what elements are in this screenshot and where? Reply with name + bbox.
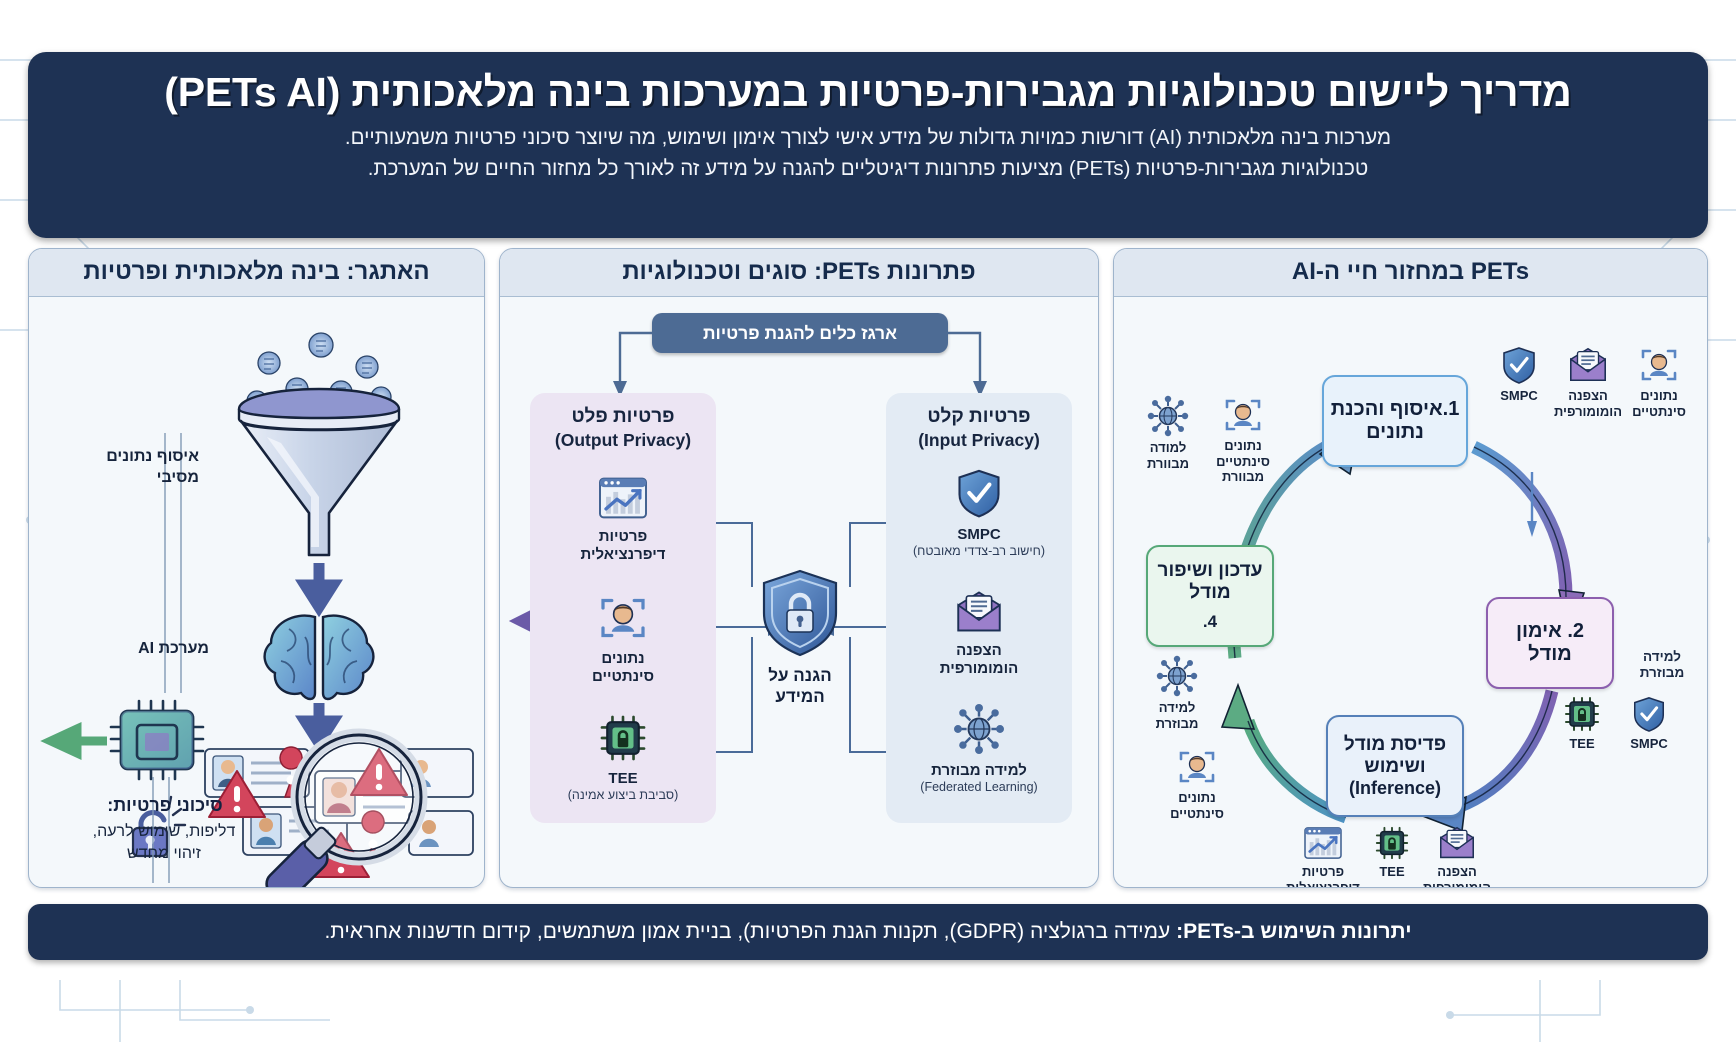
step1-line1: 1.איסוף והכנת (1331, 398, 1460, 421)
step4-line3: 4. (1158, 612, 1263, 632)
icon-homomorphic-bottom: הצפנה הומומורפית (1420, 825, 1494, 888)
icon-synthetic-top-label2: סינתטיים (1632, 404, 1686, 419)
panel-pets-solutions: פתרונות PETs: סוגים וטכנולוגיות ארגז כלי… (499, 248, 1099, 888)
funnel-label: איסוף נתונים מסיבי (49, 447, 199, 489)
poster-header: מדריך ליישום טכנולוגיות מגבירות-פרטיות ב… (28, 52, 1708, 238)
card-output-privacy[interactable]: פרטיות פלט (Output Privacy) פרטיות דיפרנ… (530, 393, 716, 823)
output-sd-label1: נתונים (601, 650, 644, 667)
poster-footer: יתרונות השימוש ב-PETs: עמידה ברגולציה (G… (28, 904, 1708, 960)
icon-federated-leftbottom-label2: מבוזרת (1156, 716, 1199, 731)
step2-line1: 2. אימון מודל (1494, 620, 1606, 666)
panel-challenge-title: האתגר: בינה מלאכותית ופרטיות (29, 249, 484, 297)
card-input-title: פרטיות קלט (Input Privacy) (886, 393, 1072, 453)
icon-he-bottom-label2: הומומורפית (1423, 880, 1491, 888)
icon-smpc-top: SMPC (1490, 345, 1548, 404)
step3-line2: ושימוש (1344, 756, 1446, 778)
output-tee-sub: (סביבת ביצוע אמינה) (530, 788, 716, 803)
input-item-federated: למידה מבוזרת (Federated Learning) (886, 703, 1072, 795)
input-item-homomorphic: הצפנה הומומורפית (886, 589, 1072, 678)
icon-federated-leftbottom-label1: למידה (1159, 700, 1196, 715)
icon-tee-bottom-label: TEE (1379, 864, 1404, 879)
icon-synthetic-leftbottom: נתונים סינתטיים (1162, 747, 1232, 821)
output-dp-label2: דיפרנציאלית (580, 546, 665, 563)
panel-challenge-body: איסוף נתונים מסיבי מערכת AI סיכוני פרטיו… (29, 297, 484, 887)
panel-lifecycle-title: PETs במחזור חיי ה-AI (1114, 249, 1707, 297)
shield-label-line2: המידע (775, 687, 824, 706)
card-output-title-en: (Output Privacy) (555, 430, 691, 450)
lifecycle-step-3[interactable]: פדיסת מודל ושימוש (Inference) (1326, 715, 1464, 817)
funnel-label-line2: מסיבי (157, 469, 199, 486)
subtitle-line-1: מערכות בינה מלאכותית (AI) דורשות כמויות … (68, 123, 1668, 153)
icon-homomorphic-top-label2: הומומורפית (1554, 404, 1622, 419)
card-input-privacy[interactable]: פרטיות קלט (Input Privacy) SMPC (חישוב ר… (886, 393, 1072, 823)
icon-dp-bottom-label1: פרטיות (1302, 864, 1344, 879)
input-smpc-sub: (חישוב רב-צדדי מאובטח) (886, 544, 1072, 559)
step4-line2: מודל (1158, 582, 1263, 604)
lifecycle-step-2[interactable]: 2. אימון מודל (1486, 597, 1614, 689)
icon-synthetic-lefttop-label2: סינתטיים מבוורת (1216, 454, 1270, 485)
step1-line2: נתונים (1331, 421, 1460, 444)
card-output-title-he: פרטיות פלט (571, 406, 674, 427)
icon-smpc-rightmid-label: SMPC (1630, 736, 1668, 751)
output-tee-label: TEE (608, 770, 637, 787)
panel-solutions-title: פתרונות PETs: סוגים וטכנולוגיות (500, 249, 1098, 297)
risk-description: דליפות, שימוש לרעה, זיהוי מחדש (49, 821, 279, 864)
icon-tee-rightmid: TEE (1554, 695, 1610, 752)
icon-federated-leftbottom: למידה מבוזרת (1142, 655, 1212, 731)
footer-bold-label: יתרונות השימוש ב-PETs: (1176, 920, 1411, 943)
icon-homomorphic-top: הצפנה הומומורפית (1554, 345, 1622, 419)
brain-label: מערכת AI (59, 639, 209, 660)
input-item-smpc: SMPC (חישוב רב-צדדי מאובטח) (886, 467, 1072, 559)
panel-lifecycle-body: 1.איסוף והכנת נתונים 2. אימון מודל פדיסת… (1114, 297, 1707, 887)
icon-synthetic-leftbottom-label1: נתונים (1178, 790, 1216, 805)
input-he-label2: הומומורפית (940, 660, 1018, 677)
icon-federated-lefttop-label2: מבוורת (1147, 456, 1189, 471)
icon-federated-rightmid-label: למידה מבוזרת (1622, 649, 1702, 682)
card-output-title: פרטיות פלט (Output Privacy) (530, 393, 716, 453)
risk-line-1: דליפות, שימוש לרעה, (93, 823, 236, 840)
icon-tee-bottom: TEE (1366, 825, 1418, 880)
output-item-synthetic-data: נתונים סינתטיים (530, 593, 716, 686)
page-title: מדריך ליישום טכנולוגיות מגבירות-פרטיות ב… (68, 68, 1668, 117)
icon-federated-lefttop-label1: למודה (1150, 440, 1187, 455)
icon-he-bottom-label1: הצפנה (1437, 864, 1477, 879)
icon-smpc-top-label: SMPC (1500, 388, 1538, 403)
output-dp-label1: פרטיות (599, 528, 648, 545)
icon-differential-privacy-bottom: פרטיות דיפרנציאלית (1284, 825, 1362, 888)
icon-federated-lefttop: למודה מבוורת (1136, 395, 1200, 471)
panel-ai-lifecycle: PETs במחזור חיי ה-AI (1113, 248, 1708, 888)
card-input-title-en: (Input Privacy) (918, 430, 1040, 450)
icon-synthetic-lefttop-label1: נתונים (1224, 438, 1262, 453)
panels-row: PETs במחזור חיי ה-AI (28, 248, 1708, 888)
output-item-tee: TEE (סביבת ביצוע אמינה) (530, 713, 716, 803)
icon-smpc-rightmid: SMPC (1620, 695, 1678, 752)
subtitle-line-2: טכנולוגיות מגבירות-פרטיות (PETs) מציעות … (68, 154, 1668, 184)
icon-synthetic-top-label1: נתונים (1640, 388, 1678, 403)
icon-homomorphic-top-label1: הצפנה (1568, 388, 1608, 403)
output-sd-label2: סינתטיים (592, 668, 654, 685)
step4-line1: עדכון ושיפור (1158, 560, 1263, 582)
input-fl-label: למידה מבוזרת (931, 762, 1027, 779)
central-shield-icon (758, 567, 842, 664)
panel-challenge: האתגר: בינה מלאכותית ופרטיות (28, 248, 485, 888)
step3-line1: פדיסת מודל (1344, 734, 1446, 756)
icon-synthetic-top: נתונים סינתטיים (1626, 345, 1692, 419)
input-smpc-label: SMPC (957, 526, 1000, 543)
shield-label-line1: הגנה על (768, 666, 831, 685)
lifecycle-step-1[interactable]: 1.איסוף והכנת נתונים (1322, 375, 1468, 467)
infographic-poster: מדריך ליישום טכנולוגיות מגבירות-פרטיות ב… (28, 52, 1708, 958)
funnel-label-line1: איסוף נתונים (106, 448, 199, 465)
footer-text: עמידה ברגולציה (GDPR), תקנות הגנת הפרטיו… (324, 920, 1176, 943)
icon-tee-rightmid-label: TEE (1569, 736, 1594, 751)
risk-line-2: זיהוי מחדש (127, 845, 201, 862)
icon-synthetic-lefttop: נתונים סינתטיים מבוורת (1206, 395, 1280, 485)
central-shield-label: הגנה על המידע (744, 665, 856, 708)
panel-solutions-body: ארגז כלים להגנת פרטיות (500, 297, 1098, 887)
icon-dp-bottom-label2: דיפרנציאלית (1286, 880, 1360, 888)
output-item-differential-privacy: פרטיות דיפרנציאלית (530, 475, 716, 564)
icon-synthetic-leftbottom-label2: סינתטיים (1170, 806, 1224, 821)
lifecycle-step-4[interactable]: עדכון ושיפור מודל 4. (1146, 545, 1274, 647)
step3-line3: (Inference) (1344, 778, 1446, 799)
input-he-label1: הצפנה (956, 642, 1002, 659)
card-input-title-he: פרטיות קלט (927, 406, 1030, 427)
input-fl-sub: (Federated Learning) (886, 780, 1072, 795)
risk-title: סיכוני פרטיות: (75, 795, 255, 816)
